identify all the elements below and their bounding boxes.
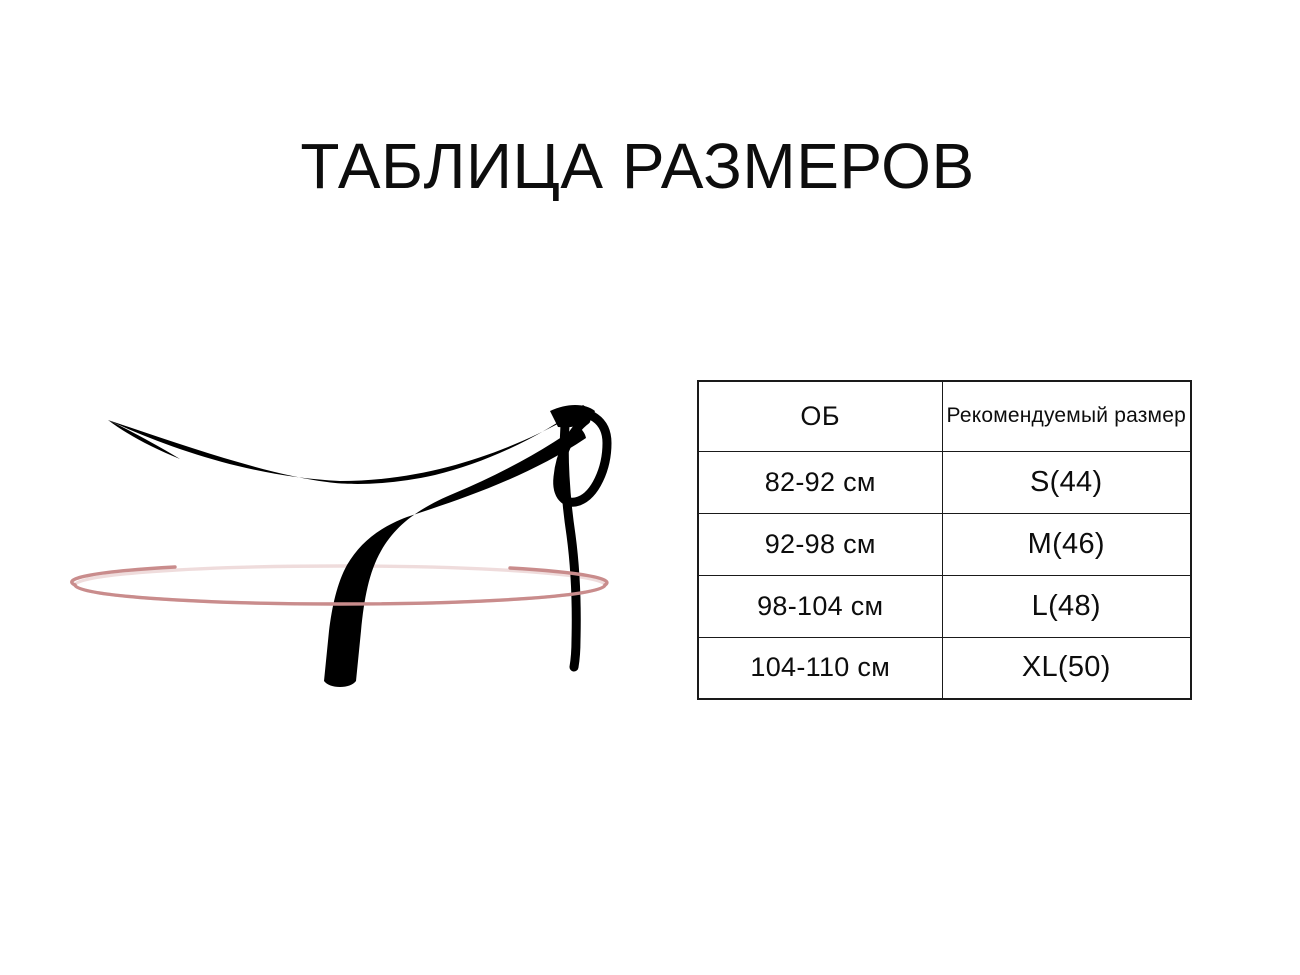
hip-range-value: 82-92 см bbox=[698, 451, 942, 513]
hip-range-value: 92-98 см bbox=[698, 513, 942, 575]
side-tie-knot bbox=[550, 405, 595, 427]
page-title: ТАБЛИЦА РАЗМЕРОВ bbox=[0, 133, 1275, 200]
recommended-size-value: XL(50) bbox=[942, 637, 1191, 699]
thong-left-tip bbox=[108, 420, 180, 459]
recommended-size-value: S(44) bbox=[942, 451, 1191, 513]
hip-range-value: 98-104 см bbox=[698, 575, 942, 637]
table-header-row: ОБ Рекомендуемый размер bbox=[698, 381, 1191, 451]
table-row: 82-92 см S(44) bbox=[698, 451, 1191, 513]
thong-body-shape bbox=[108, 405, 595, 687]
size-table-container: ОБ Рекомендуемый размер 82-92 см S(44) 9… bbox=[697, 380, 1190, 700]
recommended-size-value: M(46) bbox=[942, 513, 1191, 575]
column-header-recommended-size: Рекомендуемый размер bbox=[942, 381, 1191, 451]
hip-range-value: 104-110 см bbox=[698, 637, 942, 699]
table-row: 104-110 см XL(50) bbox=[698, 637, 1191, 699]
recommended-size-value: L(48) bbox=[942, 575, 1191, 637]
product-illustration bbox=[55, 385, 635, 715]
thong-underwear-silhouette bbox=[55, 385, 635, 715]
hip-measurement-ellipse-right-cap bbox=[510, 568, 607, 585]
table-row: 98-104 см L(48) bbox=[698, 575, 1191, 637]
side-tie-string bbox=[564, 425, 576, 667]
size-table: ОБ Рекомендуемый размер 82-92 см S(44) 9… bbox=[697, 380, 1192, 700]
column-header-hip: ОБ bbox=[698, 381, 942, 451]
table-row: 92-98 см M(46) bbox=[698, 513, 1191, 575]
